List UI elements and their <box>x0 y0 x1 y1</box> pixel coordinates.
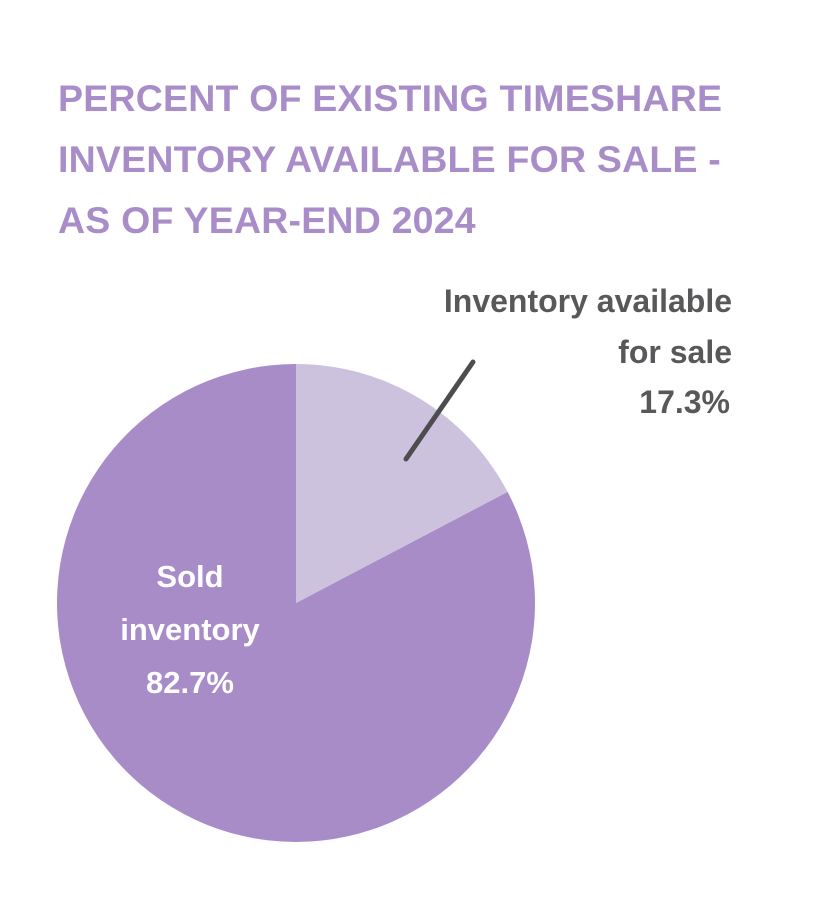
chart-canvas: PERCENT OF EXISTING TIMESHARE INVENTORY … <box>0 0 832 911</box>
pie-callout-label-inventory-available: Inventory available for sale <box>340 276 732 378</box>
pie-chart <box>0 0 832 911</box>
pie-callout-value-inventory-available: 17.3% <box>340 381 730 423</box>
pie-chart-svg <box>0 0 832 911</box>
